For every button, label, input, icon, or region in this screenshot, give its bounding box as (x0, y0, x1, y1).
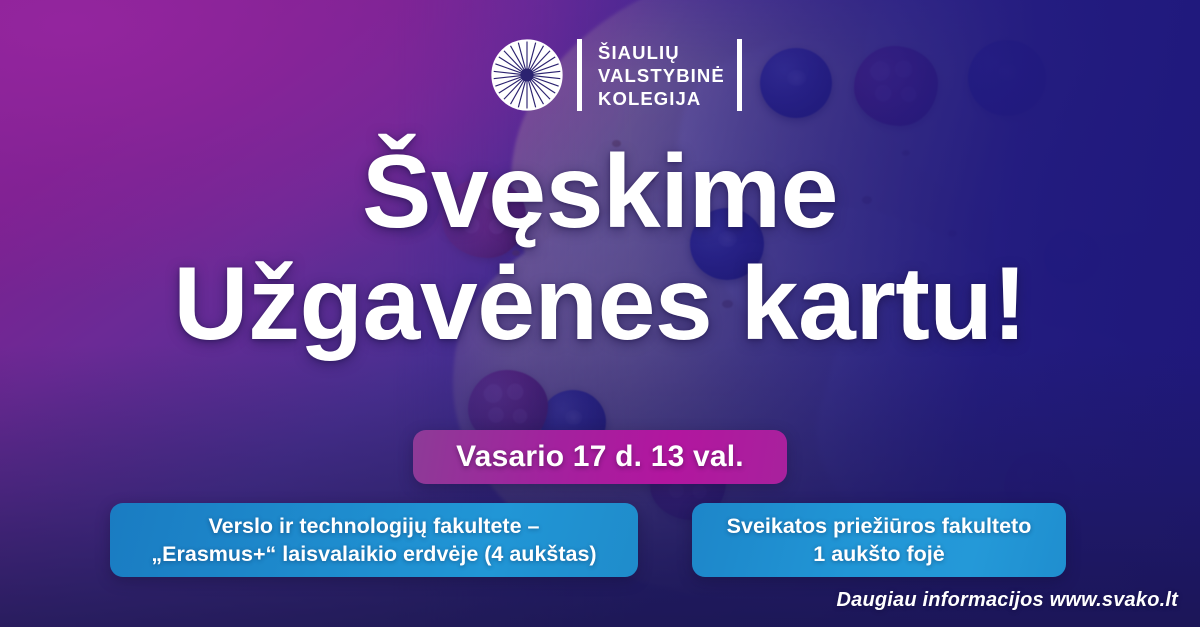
date-time-text: Vasario 17 d. 13 val. (456, 440, 744, 474)
event-poster-banner: ŠIAULIŲ VALSTYBINĖ KOLEGIJA Švęskime Užg… (0, 0, 1200, 627)
location-right-line-2: 1 aukšto fojė (727, 540, 1032, 568)
location-box-business-faculty: Verslo ir technologijų fakultete – „Eras… (110, 503, 638, 577)
logo-wordmark: ŠIAULIŲ VALSTYBINĖ KOLEGIJA (598, 41, 725, 110)
page-title: Švęskime Užgavėnes kartu! (0, 136, 1200, 360)
institution-logo: ŠIAULIŲ VALSTYBINĖ KOLEGIJA (491, 34, 742, 116)
logo-divider-right (737, 39, 742, 111)
logo-line-2: VALSTYBINĖ (598, 64, 725, 87)
footer-info: Daugiau informacijos www.svako.lt (837, 589, 1179, 612)
headline-line-2: Užgavėnes kartu! (0, 248, 1200, 360)
logo-divider-left (577, 39, 582, 111)
location-left-line-1: Verslo ir technologijų fakultete – (151, 512, 596, 540)
logo-line-1: ŠIAULIŲ (598, 41, 725, 64)
sunburst-emblem-icon (491, 39, 563, 111)
location-right-line-1: Sveikatos priežiūros fakulteto (727, 512, 1032, 540)
location-left-line-2: „Erasmus+“ laisvalaikio erdvėje (4 aukšt… (151, 540, 596, 568)
location-box-health-faculty: Sveikatos priežiūros fakulteto 1 aukšto … (692, 503, 1066, 577)
logo-line-3: KOLEGIJA (598, 87, 725, 110)
headline-line-1: Švęskime (0, 136, 1200, 248)
date-time-badge: Vasario 17 d. 13 val. (413, 430, 787, 484)
